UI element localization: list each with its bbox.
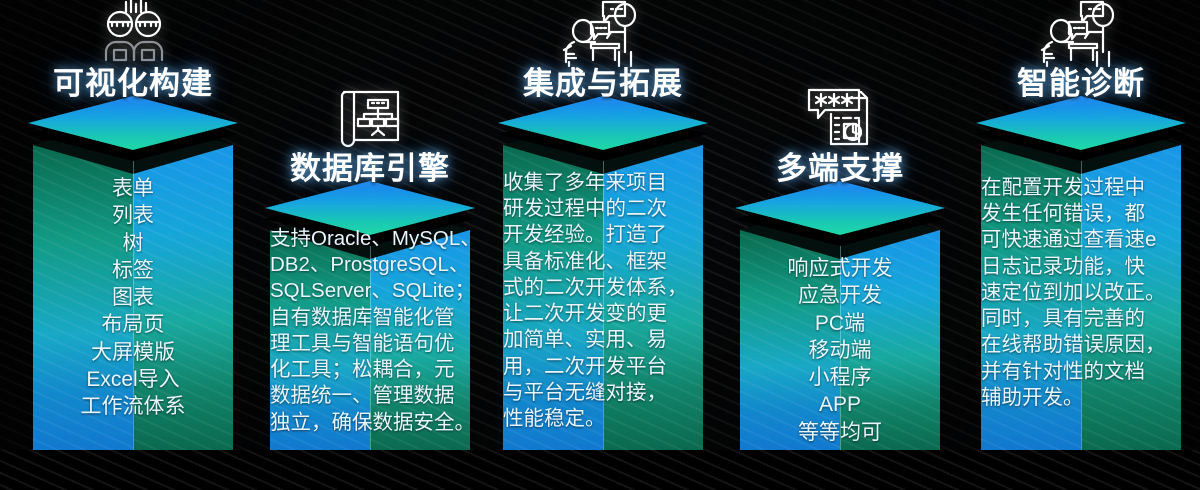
content-line: 发生任何错误，都 [981, 201, 1181, 227]
content-line: 列表 [33, 202, 233, 229]
content-line: 数据统一、管理数据 [270, 383, 470, 409]
content-line: 式的二次开发体系， [503, 275, 703, 301]
pillar-multi-terminal-support[interactable]: 多端支撑响应式开发应急开发PC端移动端小程序APP等等均可 [740, 0, 940, 450]
content-line: 响应式开发 [740, 255, 940, 282]
content-line: 日志记录功能，快 [981, 254, 1181, 280]
content-line: 工作流体系 [33, 393, 233, 420]
pillar-content-visual-build: 表单列表树标签图表布局页大屏模版Excel导入工作流体系 [33, 175, 233, 421]
content-line: 支持Oracle、MySQL、 [270, 226, 470, 252]
content-line: 研发过程中的二次 [503, 196, 703, 222]
pillar-title-integration-extension: 集成与拓展 [523, 58, 683, 103]
content-line: 与平台无缝对接， [503, 380, 703, 406]
content-line: DB2、ProstgreSQL、 [270, 252, 470, 278]
content-line: 在配置开发过程中 [981, 175, 1181, 201]
content-line: 收集了多年来项目 [503, 170, 703, 196]
content-line: PC端 [740, 310, 940, 337]
content-line: 移动端 [740, 337, 940, 364]
content-line: 理工具与智能语句优 [270, 331, 470, 357]
content-line: Excel导入 [33, 366, 233, 393]
content-line: 加简单、实用、易 [503, 327, 703, 353]
content-line: 具备标准化、框架 [503, 249, 703, 275]
content-line: 大屏模版 [33, 339, 233, 366]
content-line: 开发经验。打造了 [503, 222, 703, 248]
content-line: 独立，确保数据安全。 [270, 410, 470, 436]
pillar-intelligent-diagnosis[interactable]: 智能诊断在配置开发过程中发生任何错误，都可快速通过查看速e日志记录功能，快速定位… [981, 0, 1181, 450]
pillar-title-database-engine: 数据库引擎 [290, 143, 450, 188]
content-line: 表单 [33, 175, 233, 202]
pillar-cap-plate-multi-terminal-support [735, 181, 945, 235]
content-line: 布局页 [33, 311, 233, 338]
pillar-database-engine[interactable]: 数据库引擎支持Oracle、MySQL、DB2、ProstgreSQL、SQLS… [270, 0, 470, 450]
pillar-content-intelligent-diagnosis: 在配置开发过程中发生任何错误，都可快速通过查看速e日志记录功能，快速定位到加以改… [981, 175, 1181, 411]
content-line: SQLServer、SQLite； [270, 278, 470, 304]
pillar-content-multi-terminal-support: 响应式开发应急开发PC端移动端小程序APP等等均可 [740, 255, 940, 446]
pillar-content-integration-extension: 收集了多年来项目研发过程中的二次开发经验。打造了具备标准化、框架式的二次开发体系… [503, 170, 703, 432]
content-line: 速定位到加以改正。 [981, 280, 1181, 306]
content-line: 标签 [33, 257, 233, 284]
content-line: 同时，具有完善的 [981, 306, 1181, 332]
pillar-integration-extension[interactable]: 集成与拓展收集了多年来项目研发过程中的二次开发经验。打造了具备标准化、框架式的二… [503, 0, 703, 450]
content-line: 等等均可 [740, 419, 940, 446]
content-line: 应急开发 [740, 282, 940, 309]
content-line: 小程序 [740, 364, 940, 391]
content-line: 可快速通过查看速e [981, 227, 1181, 253]
pillar-title-intelligent-diagnosis: 智能诊断 [1017, 58, 1145, 103]
pillar-visual-build[interactable]: 可视化构建表单列表树标签图表布局页大屏模版Excel导入工作流体系 [33, 0, 233, 450]
pillar-title-visual-build: 可视化构建 [53, 58, 213, 103]
pillar-title-multi-terminal-support: 多端支撑 [776, 143, 904, 188]
content-line: 让二次开发变的更 [503, 301, 703, 327]
pillar-cap-plate-visual-build [28, 96, 238, 150]
content-line: 并有针对性的文档 [981, 359, 1181, 385]
pillar-stage: 可视化构建表单列表树标签图表布局页大屏模版Excel导入工作流体系 数据库引擎支… [0, 0, 1200, 450]
content-line: 图表 [33, 284, 233, 311]
content-line: 用，二次开发平台 [503, 354, 703, 380]
content-line: 性能稳定。 [503, 406, 703, 432]
pillar-cap-plate-integration-extension [498, 96, 708, 150]
content-line: 化工具；松耦合，元 [270, 357, 470, 383]
content-line: 自有数据库智能化管 [270, 305, 470, 331]
pillar-content-database-engine: 支持Oracle、MySQL、DB2、ProstgreSQL、SQLServer… [270, 226, 470, 436]
content-line: APP [740, 391, 940, 418]
content-line: 在线帮助错误原因， [981, 332, 1181, 358]
content-line: 树 [33, 230, 233, 257]
content-line: 辅助开发。 [981, 385, 1181, 411]
pillar-cap-plate-intelligent-diagnosis [976, 96, 1186, 150]
